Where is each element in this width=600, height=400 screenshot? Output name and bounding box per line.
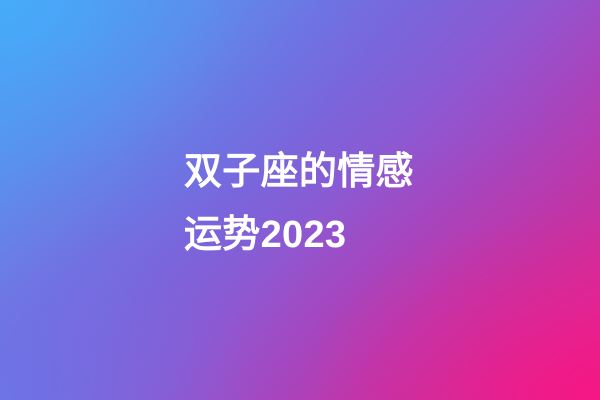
banner-title-line-2: 运势2023 [184, 204, 434, 267]
gradient-banner: 双子座的情感 运势2023 [0, 0, 600, 400]
banner-title: 双子座的情感 运势2023 [184, 141, 434, 267]
banner-title-line-1: 双子座的情感 [184, 141, 434, 204]
